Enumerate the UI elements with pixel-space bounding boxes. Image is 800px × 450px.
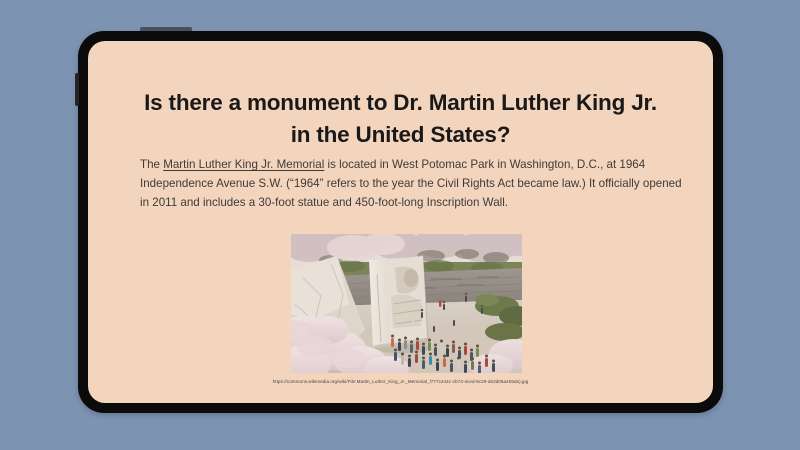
volume-button[interactable]: [140, 27, 192, 31]
tablet-device: Is there a monument to Dr. Martin Luther…: [78, 31, 723, 413]
slide-body-text: The Martin Luther King Jr. Memorial is l…: [140, 156, 692, 212]
slide-title: Is there a monument to Dr. Martin Luther…: [138, 87, 663, 151]
tablet-screen: Is there a monument to Dr. Martin Luther…: [88, 41, 713, 403]
body-text-before-link: The: [140, 158, 163, 171]
memorial-photo-frame: [291, 234, 522, 373]
presentation-slide: Is there a monument to Dr. Martin Luther…: [88, 41, 713, 403]
memorial-photo: [291, 234, 522, 373]
mlk-memorial-link[interactable]: Martin Luther King Jr. Memorial: [163, 158, 324, 171]
photo-source-caption[interactable]: https://commons.wikimedia.org/wiki/File:…: [138, 379, 663, 384]
memorial-photo-illustration: [291, 234, 522, 373]
power-button[interactable]: [75, 73, 79, 106]
screenshot-stage: Is there a monument to Dr. Martin Luther…: [0, 0, 800, 450]
